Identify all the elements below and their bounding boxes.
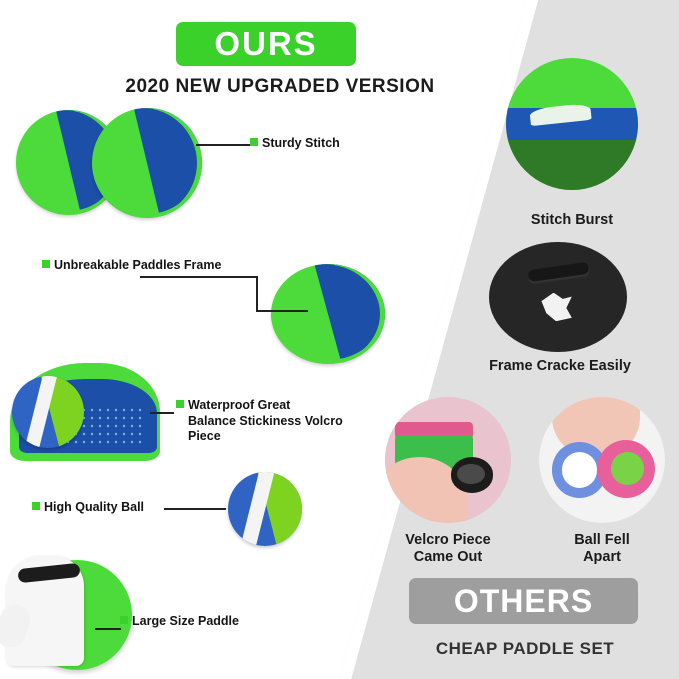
callout-label: High Quality Ball [44,500,144,516]
photo-velcro-disc-inner [457,464,485,484]
bullet-square-icon [250,138,258,146]
ball-on-velcro [12,376,84,448]
callout-sturdy-stitch: Sturdy Stitch [250,136,340,152]
photo-ball-inner-white [562,452,597,487]
photo-velcro-came-out [385,397,511,523]
callout-large-size-paddle: Large Size Paddle [120,614,239,630]
leader-line-unbreakable-frame-h [140,276,258,278]
photo-frame-cracked [489,242,627,352]
leader-line-unbreakable-frame-h2 [256,310,308,312]
callout-label: Sturdy Stitch [262,136,340,152]
bullet-square-icon [176,400,184,408]
paddle-green-rim [92,108,202,218]
leader-line-sturdy-stitch [196,144,250,146]
callout-waterproof-velcro: Waterproof Great Balance Stickiness Volc… [176,398,356,445]
photo-ball-fell-apart [539,397,665,523]
photo-stitch-burst [506,58,638,190]
caption-stitch-burst: Stitch Burst [504,212,640,229]
bullet-square-icon [32,502,40,510]
leader-line-unbreakable-frame-v [256,276,258,312]
callout-label: Unbreakable Paddles Frame [54,258,221,274]
ball-standalone [228,472,302,546]
ours-subtitle: 2020 NEW UPGRADED VERSION [100,76,460,98]
paddle-back-left [92,108,202,218]
others-banner: OTHERS [409,578,638,624]
bullet-square-icon [120,616,128,624]
callout-label: Large Size Paddle [132,614,239,630]
paddle-middle [271,264,385,364]
caption-velcro-piece-came-out: Velcro Piece Came Out [376,532,520,567]
caption-ball-fell-apart: Ball Fell Apart [533,532,671,567]
others-subtitle: CHEAP PADDLE SET [395,639,655,659]
callout-label: Waterproof Great Balance Stickiness Volc… [188,398,356,445]
leader-line-waterproof [150,412,174,414]
comparison-infographic: OURS 2020 NEW UPGRADED VERSION Sturdy St… [0,0,679,679]
photo-lower-shadow [506,140,638,190]
leader-line-large-size-paddle [95,628,121,630]
paddle-green-rim [271,264,385,364]
caption-frame-cracke-easily: Frame Cracke Easily [462,358,658,375]
photo-ball-inner-green [611,452,644,485]
ours-banner: OURS [176,22,356,66]
bullet-square-icon [42,260,50,268]
callout-unbreakable-frame: Unbreakable Paddles Frame [42,258,221,274]
ours-banner-label: OURS [214,25,317,63]
others-banner-label: OTHERS [454,583,593,620]
callout-high-quality-ball: High Quality Ball [32,500,144,516]
leader-line-high-quality-ball [164,508,226,510]
